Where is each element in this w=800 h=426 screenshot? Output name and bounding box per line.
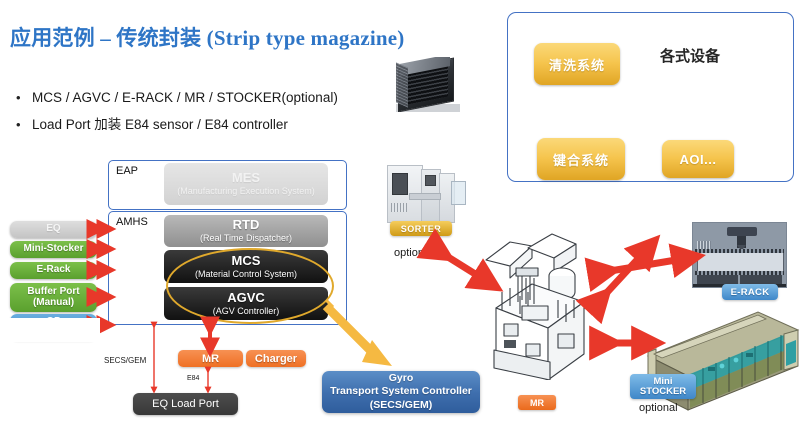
equipment-box-cleaning[interactable]: 清洗系统 bbox=[534, 43, 620, 85]
system-box-mes[interactable]: MES (Manufacturing Execution System) bbox=[164, 163, 328, 205]
page-title: 应用范例 – 传统封装 (Strip type magazine) bbox=[10, 22, 404, 52]
arrow-mr-erack bbox=[604, 258, 688, 272]
highlight-ellipse bbox=[166, 248, 334, 324]
amhs-title: AMHS bbox=[116, 216, 148, 228]
left-item-buffer-port[interactable]: Buffer Port (Manual) bbox=[10, 283, 97, 312]
erack-label: E-RACK bbox=[722, 284, 778, 300]
mini-stocker-optional-note: optional bbox=[639, 402, 678, 414]
bullet-item-1: • MCS / AGVC / E-RACK / MR / STOCKER(opt… bbox=[16, 90, 338, 106]
op-line2: (Manual) bbox=[33, 327, 74, 338]
arrow-mr-equipment bbox=[600, 248, 648, 300]
bullet-marker-icon: • bbox=[16, 117, 32, 133]
gyro-line2: Transport System Controller bbox=[330, 385, 472, 398]
strip-magazine-photo bbox=[396, 57, 460, 112]
block-eq-load-port[interactable]: EQ Load Port bbox=[133, 393, 238, 415]
mini-stocker-line2: STOCKER bbox=[640, 387, 686, 397]
left-double-arrows bbox=[96, 229, 106, 325]
bullet-text-2: Load Port 加装 E84 sensor / E84 controller bbox=[32, 117, 288, 133]
bullet-marker-icon: • bbox=[16, 90, 32, 106]
buffer-port-line1: Buffer Port bbox=[27, 287, 79, 298]
bullet-text-1: MCS / AGVC / E-RACK / MR / STOCKER(optio… bbox=[32, 90, 338, 106]
mini-stocker-photo bbox=[640, 310, 800, 415]
mini-stocker-line1: Mini bbox=[654, 377, 673, 387]
mini-stocker-label: Mini STOCKER bbox=[630, 374, 696, 399]
secs-gem-label: SECS/GEM bbox=[104, 356, 146, 365]
gyro-line1: Gyro bbox=[389, 372, 414, 385]
mr-machine-illustration bbox=[466, 222, 590, 380]
buffer-port-line2: (Manual) bbox=[33, 298, 74, 309]
sorter-photo bbox=[383, 163, 465, 223]
mes-subtitle: (Manufacturing Execution System) bbox=[177, 186, 315, 196]
block-charger[interactable]: Charger bbox=[246, 350, 306, 367]
left-item-e-rack[interactable]: E-Rack bbox=[10, 262, 97, 279]
rtd-subtitle: (Real Time Dispatcher) bbox=[200, 233, 292, 243]
bullet-item-2: • Load Port 加装 E84 sensor / E84 controll… bbox=[16, 117, 288, 133]
equipment-box-bonding[interactable]: 键合系统 bbox=[537, 138, 625, 180]
system-box-rtd[interactable]: RTD (Real Time Dispatcher) bbox=[164, 215, 328, 247]
various-equipment-label: 各式设备 bbox=[660, 45, 720, 66]
sorter-label: SORTER bbox=[390, 221, 452, 236]
sorter-optional-note: optional bbox=[394, 247, 433, 259]
left-item-mini-stocker[interactable]: Mini-Stocker bbox=[10, 241, 97, 258]
equipment-box-aoi[interactable]: AOI... bbox=[662, 140, 734, 178]
e84-label: E84 bbox=[187, 375, 199, 382]
erack-photo bbox=[692, 222, 787, 288]
mr-machine-label: MR bbox=[518, 395, 556, 410]
mes-name: MES bbox=[232, 171, 260, 186]
eap-title: EAP bbox=[116, 165, 138, 177]
block-gyro-transport-system-controller[interactable]: Gyro Transport System Controller (SECS/G… bbox=[322, 371, 480, 413]
left-item-op[interactable]: OP (Manual) bbox=[10, 314, 97, 340]
gyro-line3: (SECS/GEM) bbox=[370, 399, 432, 412]
rtd-name: RTD bbox=[233, 218, 260, 233]
block-mr[interactable]: MR bbox=[178, 350, 243, 367]
left-item-eq[interactable]: EQ bbox=[10, 221, 97, 238]
